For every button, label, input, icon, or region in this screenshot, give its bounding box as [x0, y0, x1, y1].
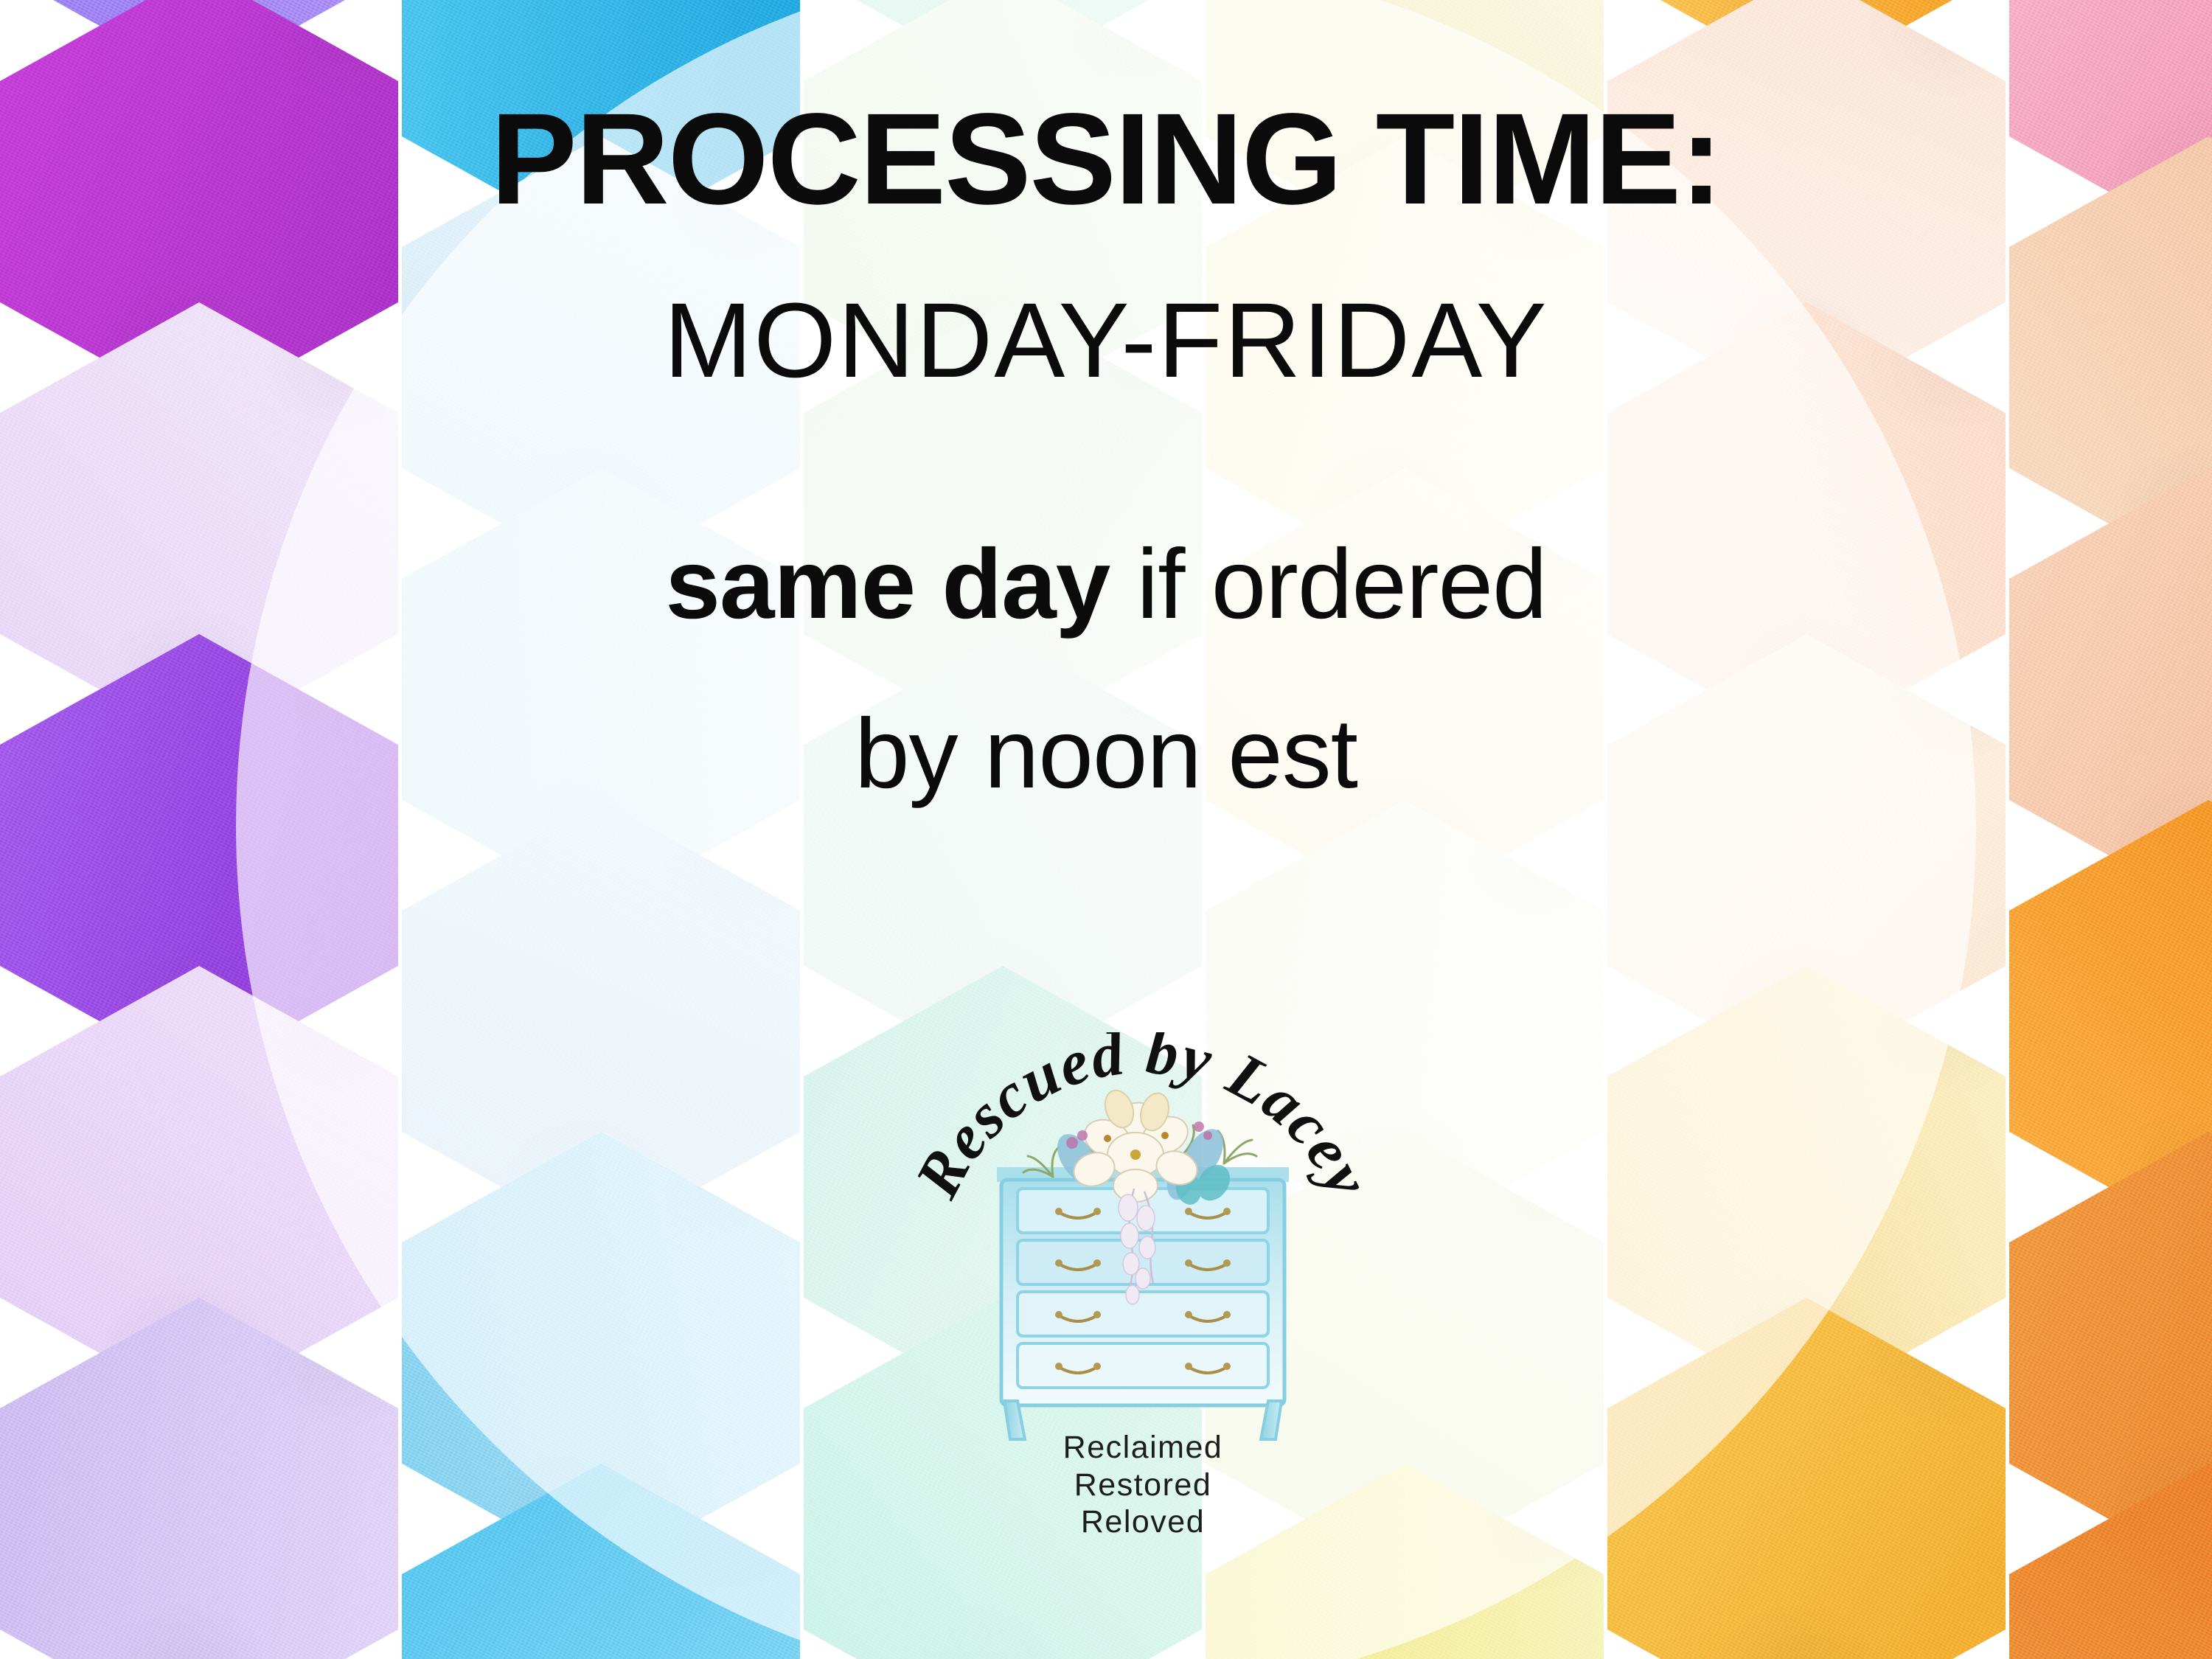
poster-canvas: PROCESSING TIME: MONDAY-FRIDAY same day … [0, 0, 2212, 1659]
tagline-line-2: Restored [914, 1467, 1371, 1504]
tagline-line-3: Reloved [914, 1503, 1371, 1541]
hexagon-tile [0, 1298, 398, 1659]
body-line-2: by noon est [0, 705, 2212, 804]
hexagon-tile [1607, 1298, 2006, 1659]
logo-illustration: Rescued by Lacey [914, 1032, 1371, 1445]
body-line-1: same day if ordered [0, 535, 2212, 634]
page-subtitle: MONDAY-FRIDAY [0, 288, 2212, 394]
body-line-1-rest: if ordered [1110, 529, 1546, 639]
tagline-line-1: Reclaimed [914, 1429, 1371, 1467]
body-line-1-bold: same day [665, 529, 1110, 639]
page-title: PROCESSING TIME: [0, 94, 2212, 224]
poster-text-block: PROCESSING TIME: MONDAY-FRIDAY same day … [0, 0, 2212, 804]
brand-logo: Rescued by Lacey [914, 1032, 1371, 1541]
